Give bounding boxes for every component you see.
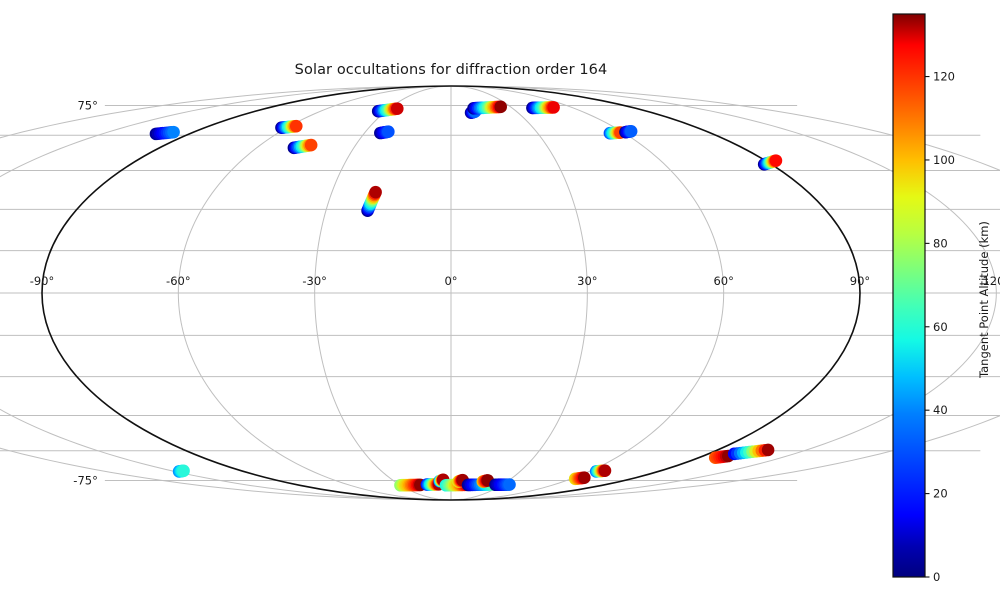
colorbar: 020406080100120 <box>0 0 1000 600</box>
colorbar-tick-label: 40 <box>933 403 948 417</box>
colorbar-ticks: 020406080100120 <box>925 70 955 584</box>
colorbar-tick-label: 0 <box>933 570 940 584</box>
colorbar-tick-label: 20 <box>933 487 948 501</box>
colorbar-tick-label: 60 <box>933 320 948 334</box>
colorbar-tick-label: 100 <box>933 153 955 167</box>
colorbar-label: Tangent Point Altitude (km) <box>977 221 991 378</box>
colorbar-tick-label: 80 <box>933 236 948 250</box>
colorbar-gradient <box>893 14 925 577</box>
colorbar-tick-label: 120 <box>933 70 955 84</box>
figure-canvas: -150°-120°-90°-60°-30°0°30°60°90°120°150… <box>0 0 1000 600</box>
